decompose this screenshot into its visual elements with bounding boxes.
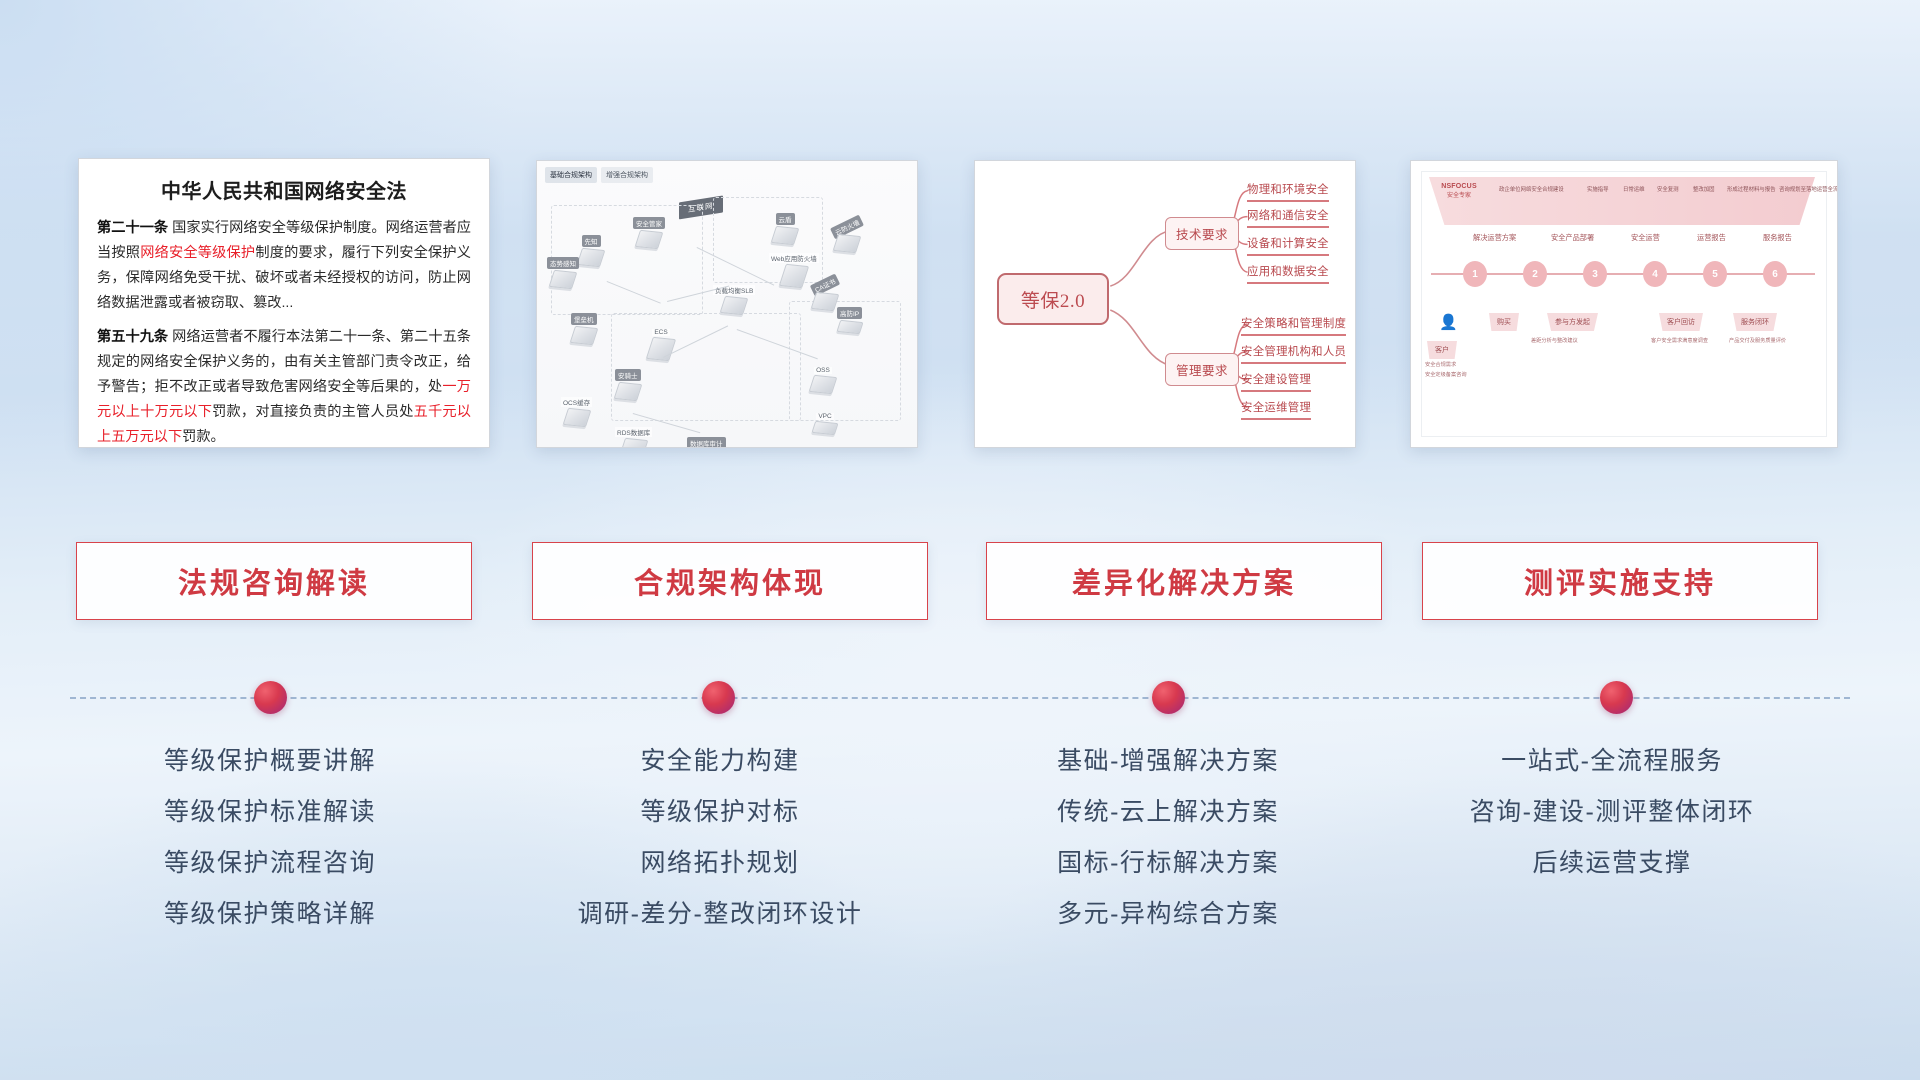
architecture-node-anqishi: 安骑士 <box>615 369 641 400</box>
feature-item: 网络拓扑规划 <box>500 838 940 889</box>
nsfocus-note-3: 客户安全需求满意度调查 <box>1651 337 1708 344</box>
law-article-59-label: 第五十九条 <box>97 329 168 345</box>
mindmap-branch-management: 管理要求 <box>1165 353 1239 386</box>
feature-item: 基础-增强解决方案 <box>948 736 1388 787</box>
section-title-1: 法规咨询解读 <box>178 560 370 602</box>
architecture-tabs: 基础合规架构 增强合规架构 <box>545 167 653 183</box>
architecture-node-database-audit: 数据库审计 <box>687 437 726 448</box>
feature-item: 多元-异构综合方案 <box>948 889 1388 940</box>
architecture-node-vpc: VPC <box>813 413 837 434</box>
nsfocus-column-4: 服务报告 <box>1763 233 1792 243</box>
section-title-box-1[interactable]: 法规咨询解读 <box>76 542 472 620</box>
section-title-box-2[interactable]: 合规架构体现 <box>532 542 928 620</box>
architecture-node-security-butler: 安全管家 <box>633 217 665 248</box>
timeline-dot-4[interactable] <box>1600 681 1633 714</box>
nsfocus-logo-name: NSFOCUS <box>1433 183 1485 190</box>
section-title-box-3[interactable]: 差异化解决方案 <box>986 542 1382 620</box>
law-article-21-highlight: 网络安全等级保护 <box>140 245 255 261</box>
nsfocus-note-4: 产品交付及服务质量评价 <box>1729 337 1786 344</box>
nsfocus-tag-purchase: 购买 <box>1489 313 1519 331</box>
mindmap-leaf-construction-mgmt: 安全建设管理 <box>1241 371 1311 392</box>
section-title-row: 法规咨询解读 合规架构体现 差异化解决方案 测评实施支持 <box>0 542 1920 632</box>
nsfocus-note-2: 差距分析与整改建议 <box>1531 337 1578 344</box>
timeline-dot-1[interactable] <box>254 681 287 714</box>
nsfocus-band-label-1: 实施指导 <box>1587 185 1609 193</box>
timeline <box>0 672 1920 732</box>
architecture-tab-basic[interactable]: 基础合规架构 <box>545 167 597 183</box>
architecture-node-slb: 负载均衡SLB <box>713 285 755 314</box>
mindmap-leaf-physical-env: 物理和环境安全 <box>1247 181 1329 202</box>
mindmap-branch-technical: 技术要求 <box>1165 217 1239 250</box>
architecture-node-ecs: ECS <box>649 329 673 360</box>
law-document: 中华人民共和国网络安全法 第二十一条 国家实行网络安全等级保护制度。网络运营者应… <box>79 159 489 448</box>
mindmap-leaf-org-personnel: 安全管理机构和人员 <box>1241 343 1346 364</box>
slide-stage: 中华人民共和国网络安全法 第二十一条 国家实行网络安全等级保护制度。网络运营者应… <box>0 0 1920 1080</box>
architecture-tab-enhanced[interactable]: 增强合规架构 <box>601 167 653 183</box>
nsfocus-band-label-6: 咨询规划至落地运营全流程服务 <box>1779 185 1838 193</box>
law-title: 中华人民共和国网络安全法 <box>97 175 471 204</box>
nsfocus-step-5: 5 <box>1703 261 1727 287</box>
timeline-dashed-line <box>70 697 1850 699</box>
nsfocus-step-2: 2 <box>1523 261 1547 287</box>
feature-item: 等级保护标准解读 <box>50 787 490 838</box>
nsfocus-logo: NSFOCUS 安全专家 <box>1433 183 1485 199</box>
feature-item: 咨询-建设-测评整体闭环 <box>1392 787 1832 838</box>
card-mindmap-dengbao[interactable]: 等保2.0 技术要求 管理要求 物理和环境安全 网络和通信安全 设备和计算安全 … <box>974 160 1356 448</box>
feature-item: 国标-行标解决方案 <box>948 838 1388 889</box>
nsfocus-band-label-4: 整改加固 <box>1693 185 1715 193</box>
feature-item: 等级保护流程咨询 <box>50 838 490 889</box>
law-article-21-label: 第二十一条 <box>97 220 168 236</box>
card-compliance-architecture[interactable]: 基础合规架构 增强合规架构 互联网 安全管家 先知 态势感知 <box>536 160 918 448</box>
architecture-node-cloud-firewall: 云防火墙 <box>831 221 863 252</box>
nsfocus-band-label-0: 政企单位网络安全合规建设 <box>1499 185 1564 193</box>
law-article-59: 第五十九条 网络运营者不履行本法第二十一条、第二十五条规定的网络安全保护义务的，… <box>97 325 471 448</box>
nsfocus-band-label-3: 安全复测 <box>1657 185 1679 193</box>
architecture-node-ocs-cache: OCS缓存 <box>561 397 592 426</box>
nsfocus-timeline-rail <box>1431 273 1815 275</box>
mindmap-leaf-device-compute: 设备和计算安全 <box>1247 235 1329 256</box>
nsfocus-column-2: 安全运营 <box>1631 233 1660 243</box>
nsfocus-column-1: 安全产品部署 <box>1551 233 1594 243</box>
mindmap-leaf-operation-mgmt: 安全运维管理 <box>1241 399 1311 420</box>
feature-item: 一站式-全流程服务 <box>1392 736 1832 787</box>
thumbnail-card-row: 中华人民共和国网络安全法 第二十一条 国家实行网络安全等级保护制度。网络运营者应… <box>0 148 1920 448</box>
nsfocus-step-4: 4 <box>1643 261 1667 287</box>
feature-column-1: 等级保护概要讲解 等级保护标准解读 等级保护流程咨询 等级保护策略详解 <box>50 736 490 940</box>
architecture-node-xianzhi: 先知 <box>579 235 603 266</box>
timeline-dot-2[interactable] <box>702 681 735 714</box>
law-article-59-text-b: 罚款，对直接负责的主管人员处 <box>212 404 413 420</box>
nsfocus-band-label-2: 日常运维 <box>1623 185 1645 193</box>
card-nsfocus-service-process[interactable]: NSFOCUS 安全专家 政企单位网络安全合规建设 实施指导 日常运维 安全复测… <box>1410 160 1838 448</box>
feature-item: 传统-云上解决方案 <box>948 787 1388 838</box>
section-title-3: 差异化解决方案 <box>1072 560 1296 602</box>
nsfocus-tag-revisit: 客户回访 <box>1659 313 1703 331</box>
law-article-21: 第二十一条 国家实行网络安全等级保护制度。网络运营者应当按照网络安全等级保护制度… <box>97 216 471 316</box>
feature-columns: 等级保护概要讲解 等级保护标准解读 等级保护流程咨询 等级保护策略详解 安全能力… <box>0 736 1920 966</box>
nsfocus-tag-closed-loop: 服务闭环 <box>1733 313 1777 331</box>
mindmap-leaf-policy-system: 安全策略和管理制度 <box>1241 315 1346 336</box>
timeline-dot-3[interactable] <box>1152 681 1185 714</box>
section-title-4: 测评实施支持 <box>1524 560 1716 602</box>
mindmap-leaf-app-data: 应用和数据安全 <box>1247 263 1329 284</box>
nsfocus-column-0: 解决运营方案 <box>1473 233 1516 243</box>
feature-item: 等级保护策略详解 <box>50 889 490 940</box>
nsfocus-note-1: 安全定级备案咨询 <box>1425 371 1467 378</box>
feature-item: 后续运营支撑 <box>1392 838 1832 889</box>
feature-item: 等级保护概要讲解 <box>50 736 490 787</box>
customer-icon: 👤 <box>1439 313 1458 331</box>
feature-column-3: 基础-增强解决方案 传统-云上解决方案 国标-行标解决方案 多元-异构综合方案 <box>948 736 1388 940</box>
nsfocus-step-6: 6 <box>1763 261 1787 287</box>
architecture-node-ca-certificate: CA证书 <box>811 279 839 310</box>
nsfocus-tag-customer: 客户 <box>1427 341 1457 359</box>
feature-item: 等级保护对标 <box>500 787 940 838</box>
mindmap-diagram: 等保2.0 技术要求 管理要求 物理和环境安全 网络和通信安全 设备和计算安全 … <box>975 161 1355 447</box>
nsfocus-diagram: NSFOCUS 安全专家 政企单位网络安全合规建设 实施指导 日常运维 安全复测… <box>1411 161 1837 447</box>
architecture-zone-compute <box>611 313 801 421</box>
card-cybersecurity-law[interactable]: 中华人民共和国网络安全法 第二十一条 国家实行网络安全等级保护制度。网络运营者应… <box>78 158 490 448</box>
law-article-59-text-c: 罚款。 <box>182 429 225 445</box>
feature-column-2: 安全能力构建 等级保护对标 网络拓扑规划 调研-差分-整改闭环设计 <box>500 736 940 940</box>
nsfocus-tag-participate: 参与方发起 <box>1547 313 1598 331</box>
nsfocus-note-0: 安全合规需求 <box>1425 361 1456 368</box>
architecture-node-situation-awareness: 态势感知 <box>547 257 579 288</box>
mindmap-root-node: 等保2.0 <box>997 273 1109 325</box>
nsfocus-step-1: 1 <box>1463 261 1487 287</box>
section-title-2: 合规架构体现 <box>634 560 826 602</box>
architecture-node-cloud-shield: 云盾 <box>773 213 797 244</box>
nsfocus-step-3: 3 <box>1583 261 1607 287</box>
architecture-node-bastion-host: 堡垒机 <box>571 313 597 344</box>
feature-column-4: 一站式-全流程服务 咨询-建设-测评整体闭环 后续运营支撑 <box>1392 736 1832 889</box>
feature-item: 调研-差分-整改闭环设计 <box>500 889 940 940</box>
nsfocus-band-label-5: 形成过程材料与报告 <box>1727 185 1776 193</box>
section-title-box-4[interactable]: 测评实施支持 <box>1422 542 1818 620</box>
architecture-node-rds-database: RDS数据库 <box>615 427 652 448</box>
architecture-node-anti-ddos-ip: 高防IP <box>837 307 862 333</box>
nsfocus-column-3: 运营报告 <box>1697 233 1726 243</box>
mindmap-leaf-network-comm: 网络和通信安全 <box>1247 207 1329 228</box>
nsfocus-logo-sub: 安全专家 <box>1433 190 1485 199</box>
architecture-node-oss: OSS <box>811 367 835 393</box>
architecture-diagram: 基础合规架构 增强合规架构 互联网 安全管家 先知 态势感知 <box>537 161 917 447</box>
feature-item: 安全能力构建 <box>500 736 940 787</box>
